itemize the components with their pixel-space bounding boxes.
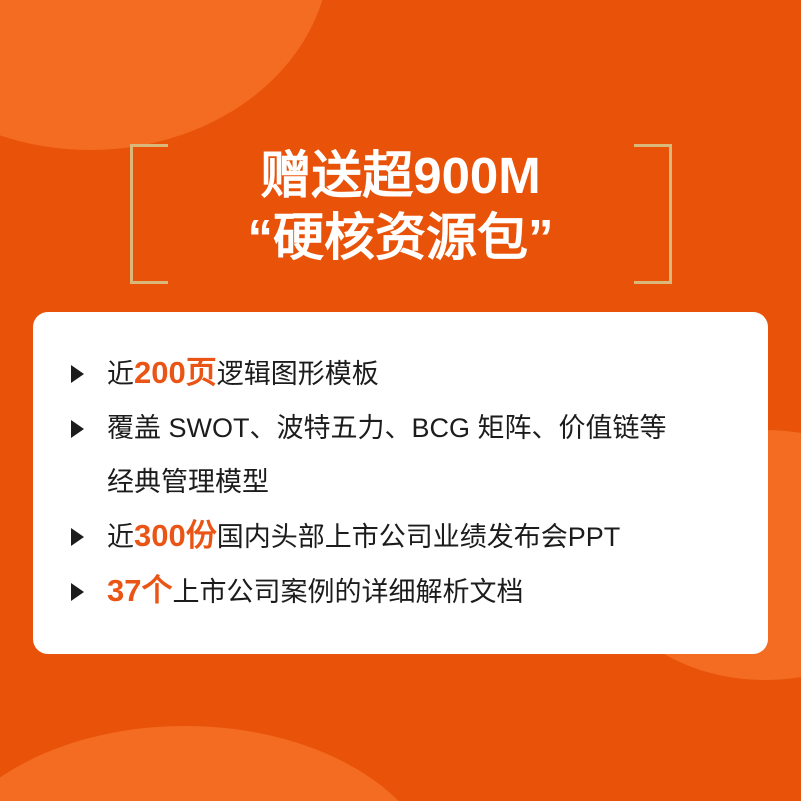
promo-poster: 赠送超900M “硬核资源包” 近200页逻辑图形模板 覆盖 SWOT、波特五力…	[0, 0, 801, 801]
triangle-bullet-icon	[71, 583, 84, 601]
benefits-list: 近200页逻辑图形模板 覆盖 SWOT、波特五力、BCG 矩阵、价值链等 经典管…	[63, 346, 738, 619]
bullet-highlight: 37个	[107, 573, 172, 608]
list-item: 近300份国内头部上市公司业绩发布会PPT	[63, 509, 738, 564]
bullet-highlight: 200页	[134, 355, 217, 390]
bullet-prefix: 近	[107, 359, 134, 389]
headline-line-1: 赠送超900M	[0, 145, 801, 207]
triangle-bullet-icon	[71, 528, 84, 546]
list-item: 覆盖 SWOT、波特五力、BCG 矩阵、价值链等 经典管理模型	[63, 401, 738, 509]
triangle-bullet-icon	[71, 420, 84, 438]
decorative-circle-top-left	[0, 0, 330, 150]
triangle-bullet-icon	[71, 365, 84, 383]
page-title: 赠送超900M “硬核资源包”	[0, 130, 801, 269]
bullet-highlight: 300份	[134, 518, 217, 553]
list-item: 37个上市公司案例的详细解析文档	[63, 564, 738, 619]
bullet-line-2: 经典管理模型	[107, 467, 269, 497]
headline-line-2: “硬核资源包”	[0, 207, 801, 269]
list-item: 近200页逻辑图形模板	[63, 346, 738, 401]
bullet-prefix: 覆盖 SWOT、波特五力、BCG 矩阵、价值链等	[107, 413, 667, 443]
bullet-prefix: 近	[107, 522, 134, 552]
decorative-circle-bottom-left	[0, 726, 440, 801]
bullet-suffix: 上市公司案例的详细解析文档	[172, 577, 523, 607]
bullet-suffix: 逻辑图形模板	[217, 359, 379, 389]
headline-area: 赠送超900M “硬核资源包”	[0, 130, 801, 300]
bullet-suffix: 国内头部上市公司业绩发布会PPT	[217, 522, 621, 552]
benefits-card: 近200页逻辑图形模板 覆盖 SWOT、波特五力、BCG 矩阵、价值链等 经典管…	[33, 312, 768, 654]
